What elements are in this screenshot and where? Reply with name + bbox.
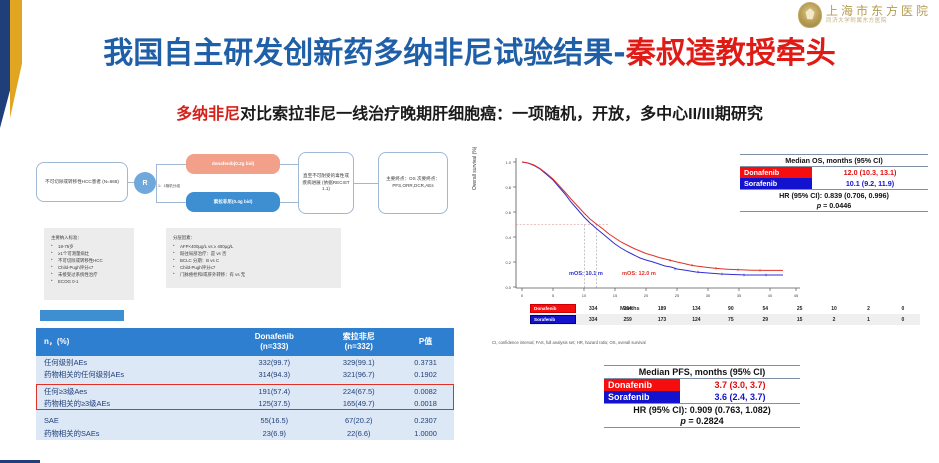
pfs-statistics-box: Median PFS, months (95% CI) Donafenib 3.… xyxy=(604,365,800,428)
table-row: 药物相关的≥3级AEs 125(37.5) 165(49.7) 0.0018 xyxy=(36,398,454,411)
cell-category: 任何级别AEs xyxy=(36,356,228,369)
inclusion-criteria-box: 主要纳入标准： 18-75岁 ≥1个可测量病灶 不可切除或转移性HCC Chil… xyxy=(44,228,134,300)
risk-count: 189 xyxy=(645,306,679,312)
svg-text:0.0: 0.0 xyxy=(505,285,511,290)
risk-count: 10 xyxy=(817,306,851,312)
annotation-mos-donafenib: mOS: 12.0 m xyxy=(622,271,656,277)
risk-cells-sorafenib: 334 259 173 124 75 29 15 2 1 0 xyxy=(576,317,920,323)
svg-text:25: 25 xyxy=(675,293,680,298)
flow-evaluation-box: 直至不可耐受的毒性或疾病进展 (依据RECIST 1.1) xyxy=(298,152,354,214)
risk-count: 90 xyxy=(714,306,748,312)
os-value-donafenib: 12.0 (10.3, 13.1) xyxy=(812,167,928,178)
page-subtitle: 多纳非尼对比索拉非尼一线治疗晚期肝细胞癌：一项随机，开放，多中心II/III期研… xyxy=(0,100,939,124)
svg-text:10: 10 xyxy=(582,293,587,298)
list-item: 不可切除或转移性HCC xyxy=(51,257,127,264)
flow-connector xyxy=(280,202,298,203)
os-label-donafenib: Donafenib xyxy=(740,167,812,178)
risk-count: 0 xyxy=(886,306,920,312)
cell-pvalue: 0.3731 xyxy=(397,356,454,369)
study-flow-diagram: 不可切除或转移性HCC患者 (N=668) R 1：1随机分组 donafeni… xyxy=(36,152,456,222)
flow-connector xyxy=(280,164,298,165)
cell-donafenib: 55(16.5) xyxy=(228,415,320,428)
list-item: ≥1个可测量病灶 xyxy=(51,250,127,257)
risk-row-sorafenib: Sorafenib 334 259 173 124 75 29 15 2 1 0 xyxy=(530,314,920,325)
svg-text:0.2: 0.2 xyxy=(505,260,511,265)
cell-category: 药物相关的≥3级AEs xyxy=(36,398,228,411)
hospital-emblem-icon xyxy=(798,2,822,28)
cell-pvalue: 0.2307 xyxy=(397,415,454,428)
list-item: ECOG 0-1 xyxy=(51,278,127,285)
svg-text:0.4: 0.4 xyxy=(505,235,511,240)
cell-pvalue: 1.0000 xyxy=(397,427,454,440)
cell-category: 任何≥3级Aes xyxy=(36,385,228,398)
table-row: SAE 55(16.5) 67(20.2) 0.2307 xyxy=(36,415,454,428)
os-value-sorafenib: 10.1 (9.2, 11.9) xyxy=(812,178,928,189)
page-title-blue: 我国自主研发创新药多纳非尼试验结果- xyxy=(103,36,625,71)
hospital-logo: 上海市东方医院 同济大学附属东方医院 xyxy=(798,2,931,28)
cell-donafenib: 191(57.4) xyxy=(228,385,320,398)
column-header-donafenib: Donafenib (n=333) xyxy=(228,328,320,356)
stratification-box: 分层因素： AFP<400μg/L vs ≥ 400μg/L 既往局部治疗：是 … xyxy=(166,228,341,288)
cell-donafenib: 125(37.5) xyxy=(228,398,320,411)
os-stats-row-donafenib: Donafenib 12.0 (10.3, 13.1) xyxy=(740,167,928,178)
os-stats-title: Median OS, months (95% CI) xyxy=(740,155,928,167)
randomization-node: R xyxy=(134,172,156,194)
cell-sorafenib: 165(49.7) xyxy=(320,398,397,411)
risk-count: 1 xyxy=(851,317,885,323)
cell-sorafenib: 67(20.2) xyxy=(320,415,397,428)
cell-pvalue: 0.1902 xyxy=(397,369,454,382)
flow-population-box: 不可切除或转移性HCC患者 (N=668) xyxy=(36,162,128,202)
risk-count: 124 xyxy=(679,317,713,323)
pfs-label-sorafenib: Sorafenib xyxy=(604,391,680,403)
list-item: AFP<400μg/L vs ≥ 400μg/L xyxy=(173,243,334,250)
svg-text:40: 40 xyxy=(768,293,773,298)
pfs-stats-row-donafenib: Donafenib 3.7 (3.0, 3.7) xyxy=(604,379,800,391)
cell-sorafenib: 224(67.5) xyxy=(320,385,397,398)
list-item: Child-Pugh评分≤7 xyxy=(51,264,127,271)
flow-connector xyxy=(156,164,186,165)
numbers-at-risk-table: Donafenib 334 264 189 134 90 54 25 10 2 … xyxy=(530,303,920,325)
chart-footnote: CI, confidence interval; FAS, full analy… xyxy=(492,340,646,345)
cell-category: SAE xyxy=(36,415,228,428)
risk-count: 334 xyxy=(576,306,610,312)
list-item: 门脉癌栓和/或肝外转移：有 vs 无 xyxy=(173,271,334,278)
list-item: Child-Pugh评分≤7 xyxy=(173,264,334,271)
pfs-value-sorafenib: 3.6 (2.4, 3.7) xyxy=(680,391,800,403)
cell-sorafenib: 22(6.6) xyxy=(320,427,397,440)
risk-row-donafenib: Donafenib 334 264 189 134 90 54 25 10 2 … xyxy=(530,303,920,314)
os-stats-row-sorafenib: Sorafenib 10.1 (9.2, 11.9) xyxy=(740,178,928,189)
cell-category: 药物相关的SAEs xyxy=(36,427,228,440)
risk-count: 2 xyxy=(817,317,851,323)
svg-text:0.6: 0.6 xyxy=(505,210,511,215)
cell-donafenib: 23(6.9) xyxy=(228,427,320,440)
svg-text:0.8: 0.8 xyxy=(505,185,511,190)
svg-text:1.0: 1.0 xyxy=(505,160,511,165)
decor-blue-tab xyxy=(40,310,124,321)
risk-count: 15 xyxy=(782,317,816,323)
slide-root: 上海市东方医院 同济大学附属东方医院 我国自主研发创新药多纳非尼试验结果-秦叔逵… xyxy=(0,0,939,463)
page-title-red: 秦叔逵教授牵头 xyxy=(626,36,836,71)
os-hazard-ratio: HR (95% CI): 0.839 (0.706, 0.996) xyxy=(740,189,928,201)
svg-text:45: 45 xyxy=(794,293,799,298)
chart-x-ticks: 0 5 10 15 20 25 30 35 40 45 xyxy=(521,288,799,298)
risk-count: 25 xyxy=(782,306,816,312)
risk-count: 264 xyxy=(610,306,644,312)
column-header-category: n，(%) xyxy=(36,328,228,356)
list-item: 既往局部治疗：是 vs 否 xyxy=(173,250,334,257)
column-header-sorafenib: 索拉非尼 (n=332) xyxy=(320,328,397,356)
risk-count: 259 xyxy=(610,317,644,323)
risk-count: 2 xyxy=(851,306,885,312)
svg-text:30: 30 xyxy=(706,293,711,298)
stratification-list: AFP<400μg/L vs ≥ 400μg/L 既往局部治疗：是 vs 否 B… xyxy=(173,243,334,278)
list-item: 18-75岁 xyxy=(51,243,127,250)
table-row: 药物相关的任何级别AEs 314(94.3) 321(96.7) 0.1902 xyxy=(36,369,454,382)
cell-sorafenib: 321(96.7) xyxy=(320,369,397,382)
pfs-label-donafenib: Donafenib xyxy=(604,379,680,391)
risk-cells-donafenib: 334 264 189 134 90 54 25 10 2 0 xyxy=(576,306,920,312)
stratification-heading: 分层因素： xyxy=(173,234,334,241)
pfs-p-value: p = 0.2824 xyxy=(604,416,800,427)
pfs-stats-row-sorafenib: Sorafenib 3.6 (2.4, 3.7) xyxy=(604,391,800,403)
flow-connector xyxy=(156,164,157,202)
flow-endpoints-box: 主要终点：OS 次要终点： PFS,ORR,DCR,AEs xyxy=(378,152,448,214)
risk-count: 173 xyxy=(645,317,679,323)
svg-text:20: 20 xyxy=(644,293,649,298)
cell-pvalue: 0.0018 xyxy=(397,398,454,411)
randomization-ratio-label: 1：1随机分组 xyxy=(158,184,180,189)
risk-count: 75 xyxy=(714,317,748,323)
chart-y-ticks: 1.0 0.8 0.6 0.4 0.2 0.0 xyxy=(505,160,516,290)
cell-sorafenib: 329(99.1) xyxy=(320,356,397,369)
list-item: BCLC 分期：B vs C xyxy=(173,257,334,264)
page-subtitle-rest: 对比索拉非尼一线治疗晚期肝细胞癌：一项随机，开放，多中心II/III期研究 xyxy=(240,106,763,123)
inclusion-heading: 主要纳入标准： xyxy=(51,234,127,241)
table-row: 药物相关的SAEs 23(6.9) 22(6.6) 1.0000 xyxy=(36,427,454,440)
svg-text:0: 0 xyxy=(521,293,524,298)
risk-count: 0 xyxy=(886,317,920,323)
risk-count: 54 xyxy=(748,306,782,312)
risk-count: 334 xyxy=(576,317,610,323)
flow-connector xyxy=(156,202,186,203)
cell-category: 药物相关的任何级别AEs xyxy=(36,369,228,382)
inclusion-list: 18-75岁 ≥1个可测量病灶 不可切除或转移性HCC Child-Pugh评分… xyxy=(51,243,127,285)
pfs-stats-title: Median PFS, months (95% CI) xyxy=(604,366,800,379)
table-row: 任何≥3级Aes 191(57.4) 224(67.5) 0.0082 xyxy=(36,385,454,398)
hospital-name-sub: 同济大学附属东方医院 xyxy=(826,19,931,25)
risk-count: 29 xyxy=(748,317,782,323)
annotation-mos-sorafenib: mOS: 10.1 m xyxy=(569,271,603,277)
os-statistics-box: Median OS, months (95% CI) Donafenib 12.… xyxy=(740,154,928,212)
column-header-pvalue: P值 xyxy=(397,328,454,356)
risk-label-sorafenib: Sorafenib xyxy=(530,315,576,324)
svg-text:5: 5 xyxy=(552,293,555,298)
flow-arm-sorafenib: 索拉非尼(0.4g bid) xyxy=(186,192,280,212)
table-header-row: n，(%) Donafenib (n=333) 索拉非尼 (n=332) P值 xyxy=(36,328,454,356)
risk-label-donafenib: Donafenib xyxy=(530,304,576,313)
cell-donafenib: 332(99.7) xyxy=(228,356,320,369)
cell-pvalue: 0.0082 xyxy=(397,385,454,398)
os-label-sorafenib: Sorafenib xyxy=(740,178,812,189)
pfs-hazard-ratio: HR (95% CI): 0.909 (0.763, 1.082) xyxy=(604,403,800,416)
risk-count: 134 xyxy=(679,306,713,312)
list-item: 未接受过系统性治疗 xyxy=(51,271,127,278)
page-title: 我国自主研发创新药多纳非尼试验结果-秦叔逵教授牵头 xyxy=(0,28,939,72)
pfs-value-donafenib: 3.7 (3.0, 3.7) xyxy=(680,379,800,391)
os-p-value: p = 0.0446 xyxy=(740,201,928,211)
page-subtitle-red: 多纳非尼 xyxy=(176,106,240,123)
table-row: 任何级别AEs 332(99.7) 329(99.1) 0.3731 xyxy=(36,356,454,369)
flow-connector xyxy=(354,183,378,184)
hospital-name: 上海市东方医院 xyxy=(826,5,931,17)
cell-donafenib: 314(94.3) xyxy=(228,369,320,382)
svg-text:15: 15 xyxy=(613,293,618,298)
svg-text:35: 35 xyxy=(737,293,742,298)
adverse-events-table: n，(%) Donafenib (n=333) 索拉非尼 (n=332) P值 … xyxy=(36,328,454,440)
flow-arm-donafenib: donafenib(0.2g bid) xyxy=(186,154,280,174)
